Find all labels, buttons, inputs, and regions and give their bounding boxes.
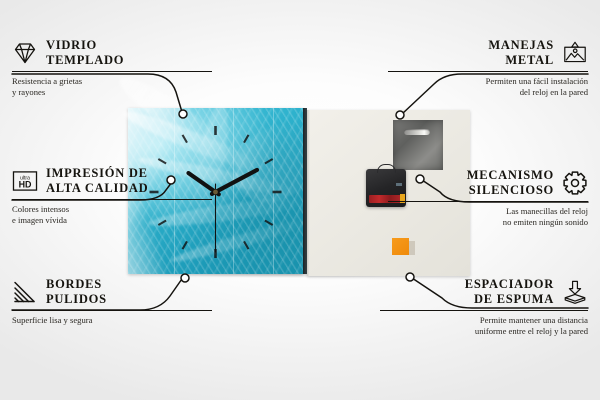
feature-divider xyxy=(380,310,588,311)
hanger-slot xyxy=(404,129,430,135)
clock-hour-marker xyxy=(183,135,188,143)
feature-subtitle: Permite mantener una distancia uniforme … xyxy=(380,315,588,338)
feature-title-line2: PULIDOS xyxy=(46,292,107,307)
feature-title-line2: DE ESPUMA xyxy=(380,292,554,307)
feature-title: ESPACIADOR DE ESPUMA xyxy=(380,277,554,307)
feature-header: MANEJAS METAL xyxy=(388,38,588,68)
foam-spacer-pad xyxy=(392,238,409,255)
clock-center-pin xyxy=(213,190,218,195)
back-panel-edge xyxy=(307,110,310,276)
feature-header: MECANISMO SILENCIOSO xyxy=(388,168,588,198)
clock-hour-marker xyxy=(265,159,273,164)
svg-text:HD: HD xyxy=(19,179,32,189)
foam-spacer-shadow xyxy=(409,241,415,255)
feature-subtitle-line2: no emiten ningún sonido xyxy=(388,217,588,229)
metal-hanger xyxy=(393,120,443,170)
feature-header: IMPRESIÓN DE ALTA CALIDAD ultra HD xyxy=(12,166,212,196)
feature-title-line1: BORDES xyxy=(46,277,107,292)
feature-subtitle: Colores intensos e imagen vívida xyxy=(12,204,212,227)
feature-subtitle-line1: Superficie lisa y segura xyxy=(12,315,212,327)
feature-title: MANEJAS METAL xyxy=(388,38,554,68)
feature-tempered-glass: VIDRIO TEMPLADO Resistencia a grietas y … xyxy=(12,38,212,99)
feature-header: VIDRIO TEMPLADO xyxy=(12,38,212,68)
picture-frame-icon xyxy=(562,40,588,66)
feature-title-line1: MECANISMO xyxy=(388,168,554,183)
clock-minute-hand xyxy=(212,170,257,194)
foam-spacer-icon xyxy=(562,279,588,305)
feature-title-line2: METAL xyxy=(388,53,554,68)
feature-title-line2: SILENCIOSO xyxy=(388,183,554,198)
feature-header: BORDES PULIDOS xyxy=(12,277,212,307)
feature-divider xyxy=(388,201,588,202)
feature-subtitle-line1: Resistencia a grietas xyxy=(12,76,212,88)
clock-hour-marker xyxy=(244,241,249,249)
feature-title-line1: ESPACIADOR xyxy=(380,277,554,292)
feature-divider xyxy=(388,71,588,72)
feature-subtitle-line2: uniforme entre el reloj y la pared xyxy=(380,326,588,338)
infographic-canvas: VIDRIO TEMPLADO Resistencia a grietas y … xyxy=(0,0,600,400)
feature-subtitle-line1: Permiten una fácil instalación xyxy=(388,76,588,88)
feature-subtitle: Permiten una fácil instalación del reloj… xyxy=(388,76,588,99)
feature-silent-mechanism: MECANISMO SILENCIOSO Las manecillas del … xyxy=(388,168,588,229)
feature-divider xyxy=(12,199,212,200)
clock-hour-marker xyxy=(158,159,166,164)
clock-hour-marker xyxy=(183,241,188,249)
feature-title-line1: MANEJAS xyxy=(388,38,554,53)
feature-subtitle-line2: del reloj en la pared xyxy=(388,87,588,99)
feature-title: BORDES PULIDOS xyxy=(46,277,107,307)
feature-polished-edges: BORDES PULIDOS Superficie lisa y segura xyxy=(12,277,212,326)
feature-subtitle-line2: y rayones xyxy=(12,87,212,99)
feature-header: ESPACIADOR DE ESPUMA xyxy=(380,277,588,307)
feature-high-quality-print: IMPRESIÓN DE ALTA CALIDAD ultra HD Color… xyxy=(12,166,212,227)
feature-subtitle: Las manecillas del reloj no emiten ningú… xyxy=(388,206,588,229)
feature-divider xyxy=(12,310,212,311)
feature-subtitle-line1: Las manecillas del reloj xyxy=(388,206,588,218)
feature-title-line2: TEMPLADO xyxy=(46,53,124,68)
feature-subtitle: Resistencia a grietas y rayones xyxy=(12,76,212,99)
gear-icon xyxy=(562,170,588,196)
feature-subtitle: Superficie lisa y segura xyxy=(12,315,212,327)
feature-subtitle-line1: Permite mantener una distancia xyxy=(380,315,588,327)
feature-subtitle-line1: Colores intensos xyxy=(12,204,212,216)
feature-metal-handles: MANEJAS METAL Permiten una fácil instala… xyxy=(388,38,588,99)
feature-title-line1: VIDRIO xyxy=(46,38,124,53)
feature-title-line1: IMPRESIÓN DE xyxy=(46,166,148,181)
feature-title: IMPRESIÓN DE ALTA CALIDAD xyxy=(46,166,148,196)
ultra-hd-icon: ultra HD xyxy=(12,168,38,194)
feature-title-line2: ALTA CALIDAD xyxy=(46,181,148,196)
feature-foam-spacer: ESPACIADOR DE ESPUMA Permite mantener un… xyxy=(380,277,588,338)
diamond-icon xyxy=(12,40,38,66)
polished-edge-icon xyxy=(12,279,38,305)
feature-divider xyxy=(12,71,212,72)
feature-title: VIDRIO TEMPLADO xyxy=(46,38,124,68)
clock-hour-marker xyxy=(265,221,273,226)
clock-hour-marker xyxy=(244,135,249,143)
feature-subtitle-line2: e imagen vívida xyxy=(12,215,212,227)
feature-title: MECANISMO SILENCIOSO xyxy=(388,168,554,198)
